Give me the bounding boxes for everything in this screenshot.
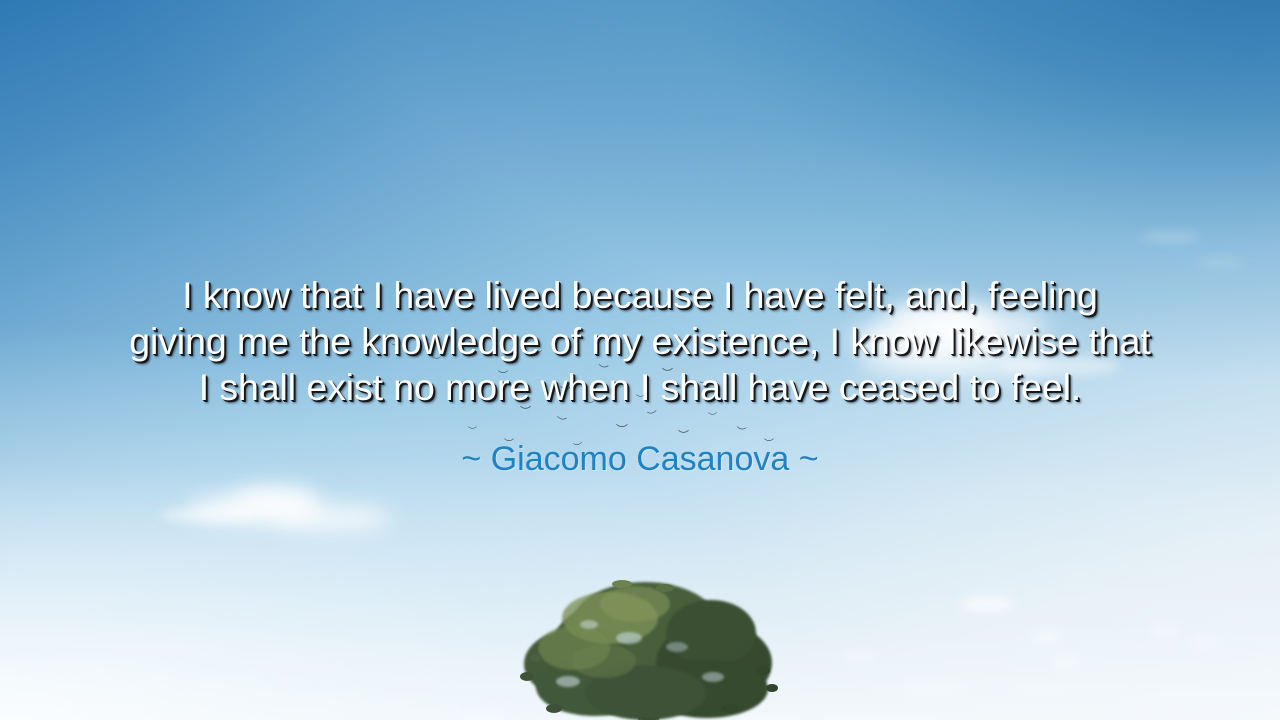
quote-text-block: I know that I have lived because I have … [0, 272, 1280, 410]
tree-leaf-cluster [546, 704, 562, 713]
tree-leaf-cluster [520, 672, 534, 681]
tree-leaf-cluster [766, 684, 778, 692]
tree-sky-gap [580, 620, 598, 629]
quote-line: I shall exist no more when I shall have … [40, 364, 1240, 410]
tree-leaf-cluster [530, 654, 542, 662]
tree-leaf-cluster [656, 584, 674, 592]
tree-leaf-cluster [756, 666, 770, 675]
tree-canopy [666, 600, 756, 666]
tree-sky-gap [702, 672, 724, 682]
tree-leaf-cluster [612, 580, 632, 588]
quote-line: giving me the knowledge of my existence,… [40, 318, 1240, 364]
quote-line: I know that I have lived because I have … [40, 272, 1240, 318]
tree-sky-gap [556, 676, 580, 687]
oak-tree [516, 580, 772, 720]
tree-sky-gap [616, 632, 642, 644]
tree-leaf-cluster [722, 704, 738, 713]
tree-sky-gap [666, 642, 688, 652]
tree-canopy-highlight [572, 644, 636, 678]
quote-attribution: ~ Giacomo Casanova ~ [0, 438, 1280, 480]
quote-card: ︶ ︶ ︶ ︶ ︶ ︶ ︶ ︶ ︶ ︶ ︶ ︶ ︶ ︶ ︶ ︶ ︶ ︶ ︶ ︶ … [0, 0, 1280, 720]
